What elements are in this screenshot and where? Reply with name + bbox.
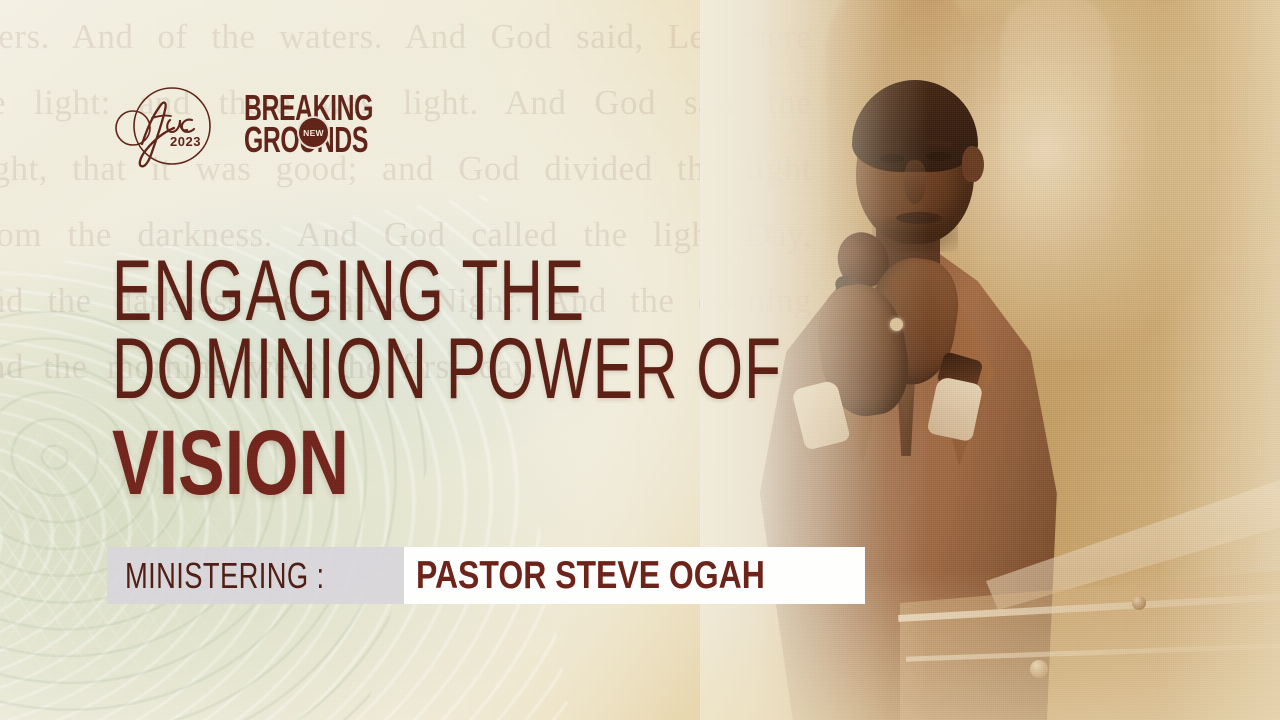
title-block: ENGAGING THE DOMINION POWER OF VISION [112,252,1069,510]
breaking-new-grounds-logo: BREAKING GROUNDS NEW [244,92,368,164]
ayac-logo-mark: 2023 [108,82,220,174]
ministering-bar: MINISTERING : PASTOR STEVE OGAH [107,547,865,604]
title-line-2: DOMINION POWER OF [112,330,782,408]
bng-new-badge: NEW [297,116,330,149]
event-flyer: aters. And of the waters. And God said, … [0,0,1280,720]
logo-row: 2023 BREAKING GROUNDS NEW [108,82,368,174]
ministering-name: PASTOR STEVE OGAH [416,554,765,598]
ministering-label: MINISTERING : [125,555,325,597]
ministering-label-band: MINISTERING : [107,547,404,604]
title-line-1: ENGAGING THE [112,252,782,330]
ministering-name-band: PASTOR STEVE OGAH [404,547,865,604]
ayac-logo: 2023 [108,82,220,174]
title-emphasis-vision: VISION [112,416,839,510]
ayac-logo-year: 2023 [170,134,201,149]
